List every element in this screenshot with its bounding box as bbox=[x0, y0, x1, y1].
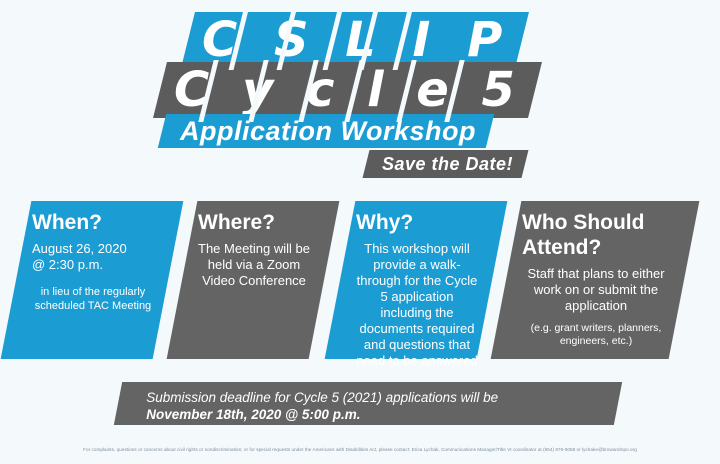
panel-who-sub: (e.g. grant writers, planners, engineers… bbox=[522, 322, 670, 348]
panel-who-body: Staff that plans to either work on or su… bbox=[522, 266, 670, 314]
panel-where: Where? The Meeting will be held via a Zo… bbox=[167, 201, 340, 359]
tagline-text: Save the Date! bbox=[382, 150, 513, 178]
logo-cslip-text: C S L I P bbox=[202, 12, 512, 68]
deadline-line-2: November 18th, 2020 @ 5:00 p.m. bbox=[146, 406, 618, 423]
header-logo-block: C S L I P C y c l e 5 Application Worksh… bbox=[0, 0, 720, 192]
tagline-band: Save the Date! bbox=[363, 150, 529, 178]
panel-when-heading: When? bbox=[32, 210, 154, 235]
panel-why-body: This workshop will provide a walk-throug… bbox=[356, 241, 478, 369]
panel-who: Who Should Attend? Staff that plans to e… bbox=[491, 201, 700, 359]
deadline-line-1: Submission deadline for Cycle 5 (2021) a… bbox=[146, 389, 618, 406]
panel-who-heading: Who Should Attend? bbox=[522, 210, 670, 260]
panel-why-heading: Why? bbox=[356, 210, 478, 235]
footer-disclaimer: For complaints, questions or concerns ab… bbox=[0, 446, 720, 454]
info-panels-row: When? August 26, 2020 @ 2:30 p.m. in lie… bbox=[0, 201, 720, 359]
panel-where-body: The Meeting will be held via a Zoom Vide… bbox=[198, 241, 310, 289]
panel-when-body-line1: August 26, 2020 bbox=[32, 241, 154, 257]
panel-why: Why? This workshop will provide a walk-t… bbox=[325, 201, 508, 359]
panel-where-heading: Where? bbox=[198, 210, 310, 235]
flyer-canvas: C S L I P C y c l e 5 Application Worksh… bbox=[0, 0, 720, 464]
panel-when: When? August 26, 2020 @ 2:30 p.m. in lie… bbox=[1, 201, 184, 359]
deadline-banner: Submission deadline for Cycle 5 (2021) a… bbox=[114, 382, 622, 425]
subtitle-text: Application Workshop bbox=[180, 114, 476, 148]
panel-when-note: in lieu of the regularly scheduled TAC M… bbox=[32, 285, 154, 313]
panel-when-body-line2: @ 2:30 p.m. bbox=[32, 257, 154, 273]
